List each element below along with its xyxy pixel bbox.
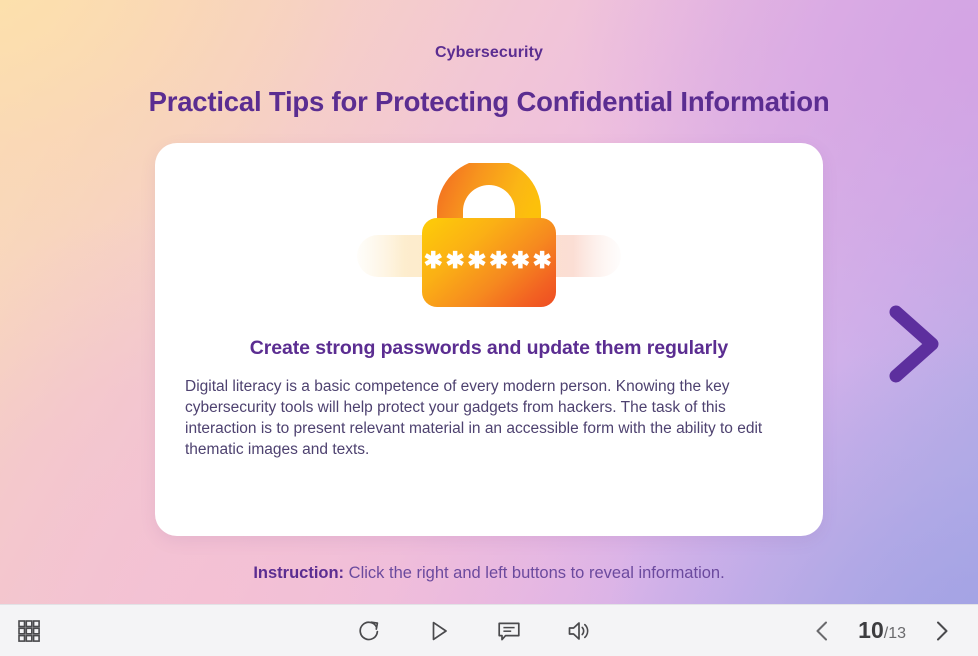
speech-bubble-icon <box>496 618 522 644</box>
slide-eyebrow: Cybersecurity <box>0 44 978 62</box>
previous-page-button[interactable] <box>806 614 838 648</box>
chevron-left-icon <box>810 618 834 644</box>
toolbar-right-group: 10/13 <box>748 614 978 648</box>
notes-button[interactable] <box>492 614 526 648</box>
instruction-line: Instruction: Click the right and left bu… <box>0 564 978 583</box>
chevron-right-small-icon <box>930 618 954 644</box>
instruction-label: Instruction: <box>253 564 344 582</box>
slides-menu-button[interactable] <box>12 614 46 648</box>
card-heading: Create strong passwords and update them … <box>195 337 783 360</box>
slide-stage: Cybersecurity Practical Tips for Protect… <box>0 0 978 656</box>
padlock-icon: ✱✱✱✱✱✱ <box>339 163 639 313</box>
total-page-number: 13 <box>888 625 906 642</box>
masked-password-text: ✱✱✱✱✱✱ <box>424 247 555 273</box>
instruction-text: Click the right and left buttons to reve… <box>344 564 725 582</box>
player-toolbar: 10/13 <box>0 604 978 656</box>
content-card: ✱✱✱✱✱✱ Create strong passwords and updat… <box>155 143 823 536</box>
toolbar-center-group <box>200 614 748 648</box>
current-page-number: 10 <box>858 617 884 643</box>
play-icon <box>426 618 452 644</box>
chevron-right-icon <box>878 298 950 390</box>
volume-button[interactable] <box>562 614 596 648</box>
next-page-button[interactable] <box>926 614 958 648</box>
play-button[interactable] <box>422 614 456 648</box>
grid-menu-icon <box>16 618 42 644</box>
speaker-icon <box>566 618 592 644</box>
illustration-area: ✱✱✱✱✱✱ <box>155 163 823 313</box>
next-reveal-button[interactable] <box>878 298 950 390</box>
page-title: Practical Tips for Protecting Confidenti… <box>0 86 978 118</box>
replay-button[interactable] <box>352 614 386 648</box>
toolbar-left-group <box>0 614 200 648</box>
replay-icon <box>356 618 382 644</box>
card-body-text: Digital literacy is a basic competence o… <box>185 376 797 460</box>
page-counter: 10/13 <box>858 617 906 644</box>
